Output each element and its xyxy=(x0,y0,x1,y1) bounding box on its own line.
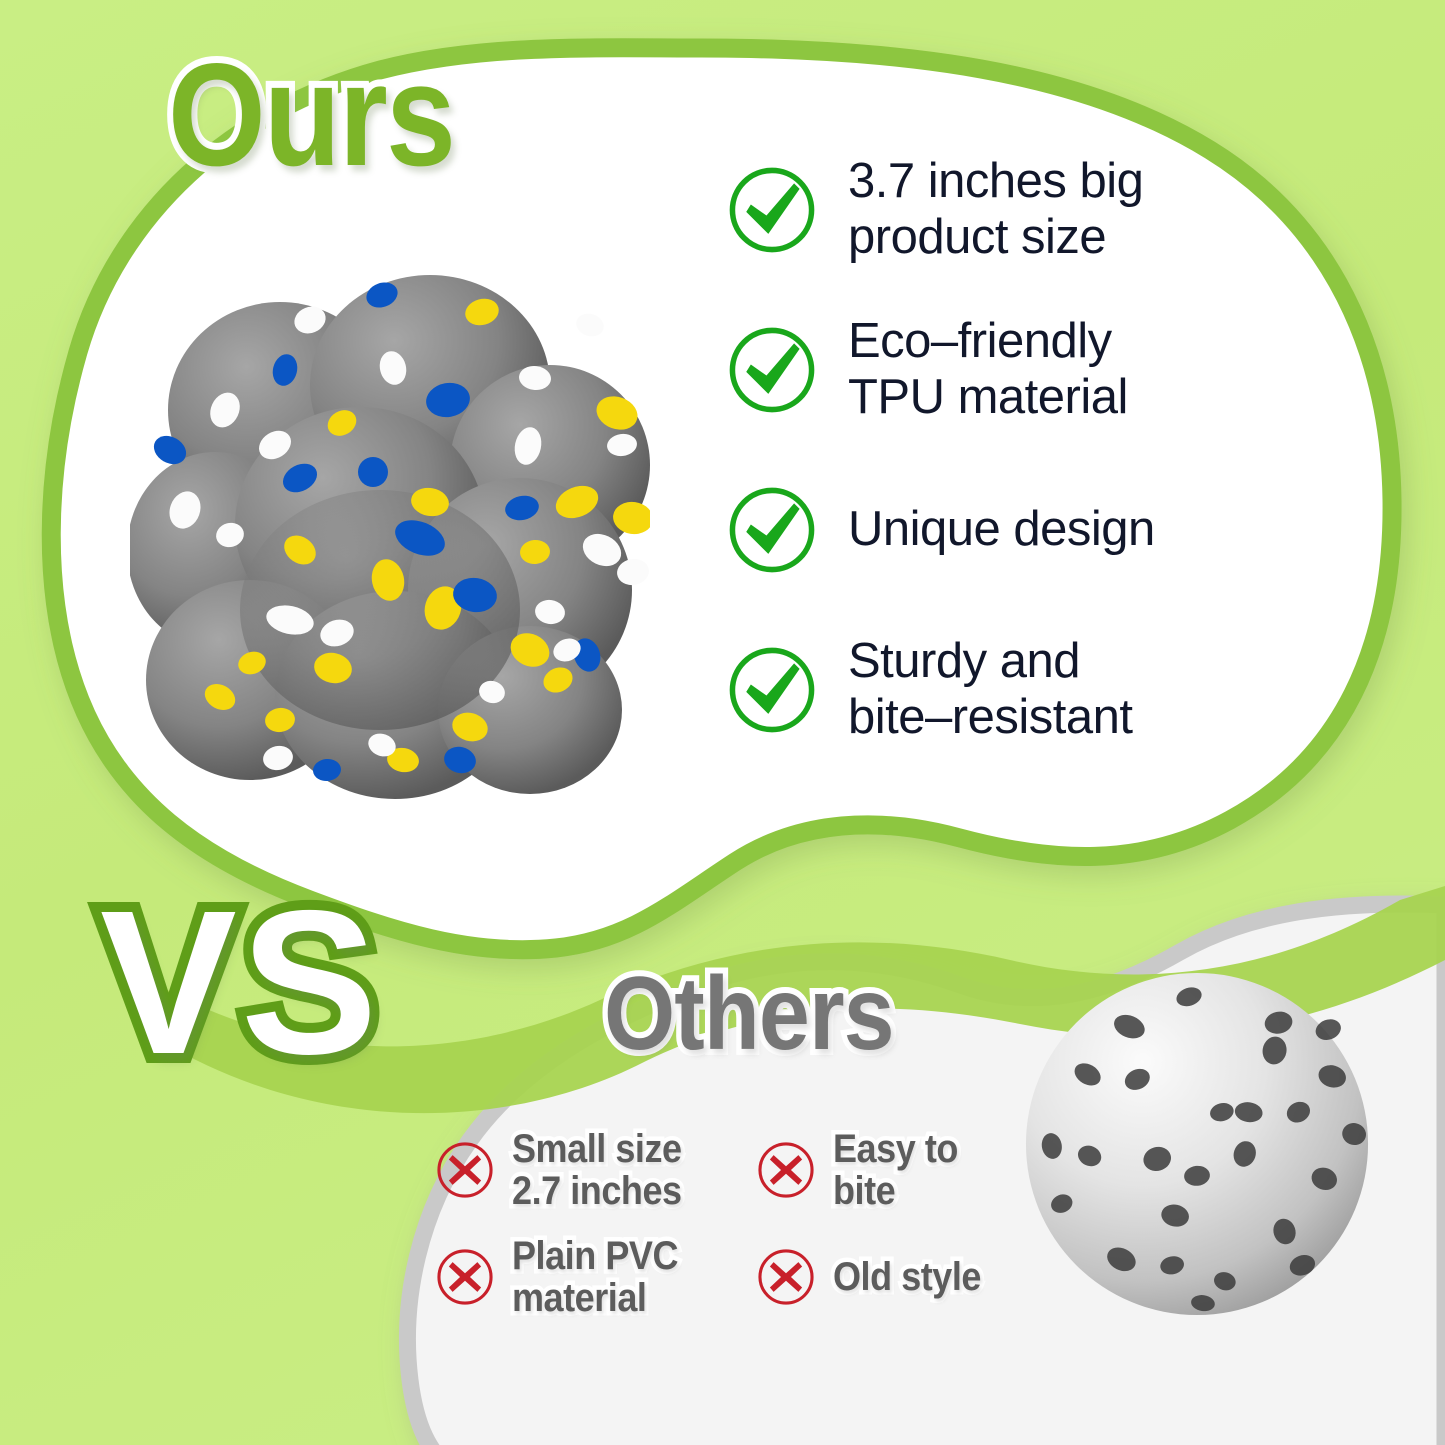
comparison-infographic: Ours xyxy=(0,0,1445,1445)
check-circle-icon xyxy=(726,644,818,736)
feature-item: Unique design xyxy=(726,472,1196,587)
ours-product-image xyxy=(130,250,650,810)
feature-label: 3.7 inches big product size xyxy=(848,154,1143,266)
check-circle-icon xyxy=(726,484,818,576)
feature-label: Eco–friendly TPU material xyxy=(848,314,1128,426)
feature-item: 3.7 inches big product size xyxy=(726,152,1196,267)
feature-item: Sturdy and bite–resistant xyxy=(726,632,1196,747)
check-circle-icon xyxy=(726,324,818,416)
drawback-item: Easy to bite xyxy=(755,1128,1034,1213)
drawback-label: Easy to bite xyxy=(833,1128,1014,1213)
drawback-row: Plain PVC material Old style xyxy=(434,1235,1034,1320)
drawback-label: Old style xyxy=(833,1256,981,1298)
drawback-label: Small size 2.7 inches xyxy=(512,1128,682,1213)
others-product-image xyxy=(1018,965,1376,1323)
drawback-row: Small size 2.7 inches Easy to bite xyxy=(434,1128,1034,1213)
versus-label: VS xyxy=(100,880,381,1085)
feature-label: Unique design xyxy=(848,502,1155,558)
x-circle-icon xyxy=(755,1139,817,1201)
feature-label: Sturdy and bite–resistant xyxy=(848,634,1132,746)
others-title: Others xyxy=(604,962,894,1066)
x-circle-icon xyxy=(434,1139,496,1201)
x-circle-icon xyxy=(434,1246,496,1308)
drawback-item: Old style xyxy=(755,1235,1034,1320)
drawback-item: Small size 2.7 inches xyxy=(434,1128,733,1213)
others-drawback-list: Small size 2.7 inches Easy to bite Plain… xyxy=(434,1128,1034,1320)
ours-feature-list: 3.7 inches big product size Eco–friendly… xyxy=(726,152,1196,747)
x-circle-icon xyxy=(755,1246,817,1308)
drawback-label: Plain PVC material xyxy=(512,1235,678,1320)
ours-title: Ours xyxy=(168,42,454,188)
drawback-item: Plain PVC material xyxy=(434,1235,733,1320)
feature-item: Eco–friendly TPU material xyxy=(726,312,1196,427)
check-circle-icon xyxy=(726,164,818,256)
